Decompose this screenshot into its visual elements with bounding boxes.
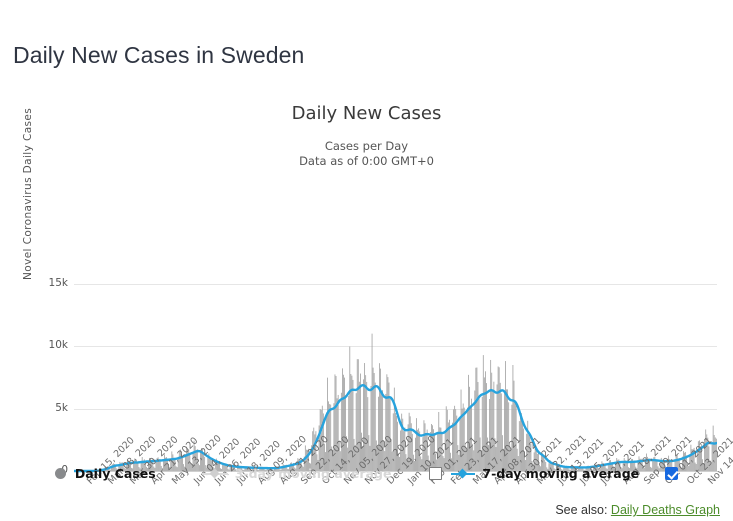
legend-item-daily-cases[interactable]: Daily Cases — [55, 460, 156, 486]
chart-card: Daily New Cases Cases per Day Data as of… — [0, 95, 733, 495]
seven-day-line-icon — [451, 468, 475, 479]
legend-label-3day-average: 3-day moving average — [235, 466, 392, 481]
daily-cases-dot-icon — [55, 468, 66, 479]
legend-item-3day-average[interactable]: 3-day moving average — [202, 460, 392, 486]
y-tick-label: 10k — [32, 339, 68, 351]
see-also: See also: Daily Deaths Graph — [555, 503, 720, 517]
y-tick-label: 15k — [32, 277, 68, 289]
checkbox-3day-average[interactable] — [429, 467, 442, 480]
daily-deaths-graph-link[interactable]: Daily Deaths Graph — [611, 503, 720, 517]
y-tick-label: 5k — [32, 402, 68, 414]
legend-label-daily-cases: Daily Cases — [75, 466, 156, 481]
three-day-line-icon — [202, 468, 228, 479]
page-title: Daily New Cases in Sweden — [13, 42, 304, 69]
x-axis-ticks: Feb 15, 2020Mar 08, 2020Mar 30, 2020Apr … — [0, 95, 733, 215]
checkbox-7day-average[interactable] — [665, 467, 678, 480]
legend-label-7day-average: 7-day moving average — [482, 466, 639, 481]
see-also-label: See also: — [555, 503, 607, 517]
chart-legend: Daily Cases 3-day moving average 7-day m… — [0, 458, 733, 488]
legend-item-7day-average[interactable]: 7-day moving average — [429, 460, 678, 486]
